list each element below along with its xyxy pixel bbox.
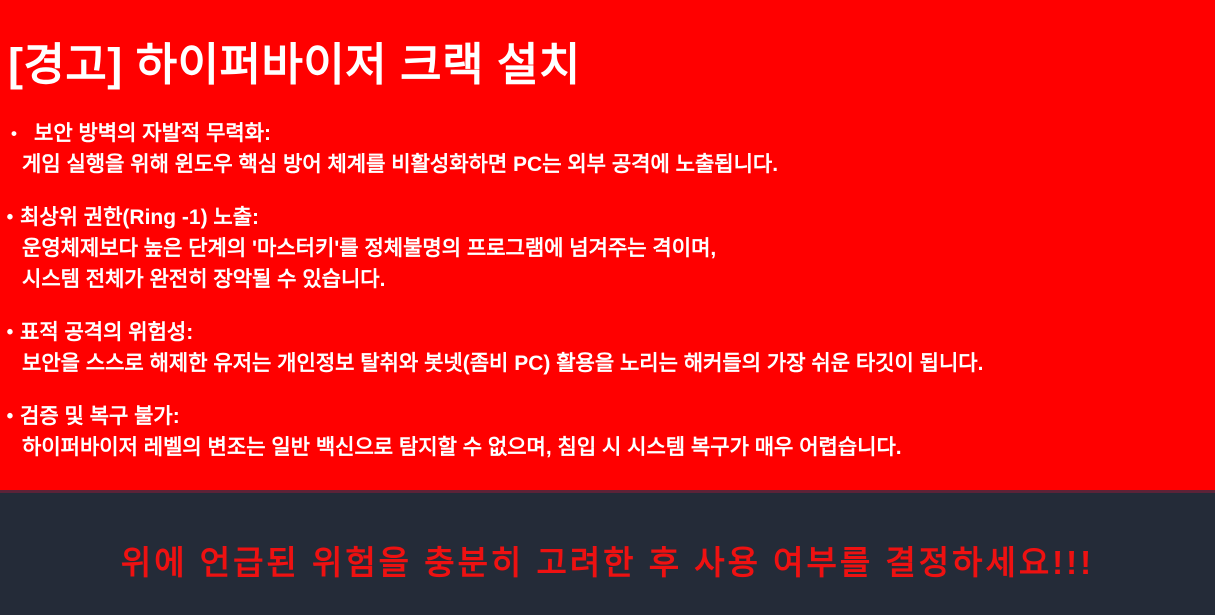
footer-banner: 위에 언급된 위험을 충분히 고려한 후 사용 여부를 결정하세요!!! [0, 493, 1215, 615]
risk-item: • 보안 방벽의 자발적 무력화: 게임 실행을 위해 윈도우 핵심 방어 체계… [0, 118, 1215, 180]
risk-heading: 표적 공격의 위험성: [20, 317, 193, 348]
risk-heading: 검증 및 복구 불가: [20, 401, 180, 432]
risk-detail-line: 보안을 스스로 해제한 유저는 개인정보 탈취와 봇넷(좀비 PC) 활용을 노… [0, 348, 1215, 379]
bullet-icon: • [0, 317, 20, 348]
risk-list: • 보안 방벽의 자발적 무력화: 게임 실행을 위해 윈도우 핵심 방어 체계… [0, 118, 1215, 485]
risk-item: • 검증 및 복구 불가: 하이퍼바이저 레벨의 변조는 일반 백신으로 탐지할… [0, 401, 1215, 463]
risk-detail-line: 게임 실행을 위해 윈도우 핵심 방어 체계를 비활성화하면 PC는 외부 공격… [0, 149, 1215, 180]
footer-call-to-action: 위에 언급된 위험을 충분히 고려한 후 사용 여부를 결정하세요!!! [0, 543, 1215, 583]
risk-detail-lines: 보안을 스스로 해제한 유저는 개인정보 탈취와 봇넷(좀비 PC) 활용을 노… [0, 348, 1215, 379]
risk-detail-lines: 운영체제보다 높은 단계의 '마스터키'를 정체불명의 프로그램에 넘겨주는 격… [0, 233, 1215, 295]
risk-heading-row: • 보안 방벽의 자발적 무력화: [0, 118, 1215, 149]
risk-detail-lines: 게임 실행을 위해 윈도우 핵심 방어 체계를 비활성화하면 PC는 외부 공격… [0, 149, 1215, 180]
risk-detail-line: 시스템 전체가 완전히 장악될 수 있습니다. [0, 264, 1215, 295]
risk-item: • 최상위 권한(Ring -1) 노출: 운영체제보다 높은 단계의 '마스터… [0, 202, 1215, 295]
risk-item: • 표적 공격의 위험성: 보안을 스스로 해제한 유저는 개인정보 탈취와 봇… [0, 317, 1215, 379]
page-title: [경고] 하이퍼바이저 크랙 설치 [8, 34, 581, 96]
bullet-icon: • [0, 118, 28, 149]
warning-panel: [경고] 하이퍼바이저 크랙 설치 • 보안 방벽의 자발적 무력화: 게임 실… [0, 0, 1215, 490]
risk-heading-row: • 검증 및 복구 불가: [0, 401, 1215, 432]
risk-detail-line: 운영체제보다 높은 단계의 '마스터키'를 정체불명의 프로그램에 넘겨주는 격… [0, 233, 1215, 264]
risk-heading: 최상위 권한(Ring -1) 노출: [20, 202, 259, 233]
bullet-icon: • [0, 202, 20, 233]
risk-detail-line: 하이퍼바이저 레벨의 변조는 일반 백신으로 탐지할 수 없으며, 침입 시 시… [0, 432, 1215, 463]
risk-heading: 보안 방벽의 자발적 무력화: [28, 118, 271, 149]
risk-heading-row: • 표적 공격의 위험성: [0, 317, 1215, 348]
bullet-icon: • [0, 401, 20, 432]
risk-detail-lines: 하이퍼바이저 레벨의 변조는 일반 백신으로 탐지할 수 없으며, 침입 시 시… [0, 432, 1215, 463]
risk-heading-row: • 최상위 권한(Ring -1) 노출: [0, 202, 1215, 233]
warning-notice-page: [경고] 하이퍼바이저 크랙 설치 • 보안 방벽의 자발적 무력화: 게임 실… [0, 0, 1215, 615]
